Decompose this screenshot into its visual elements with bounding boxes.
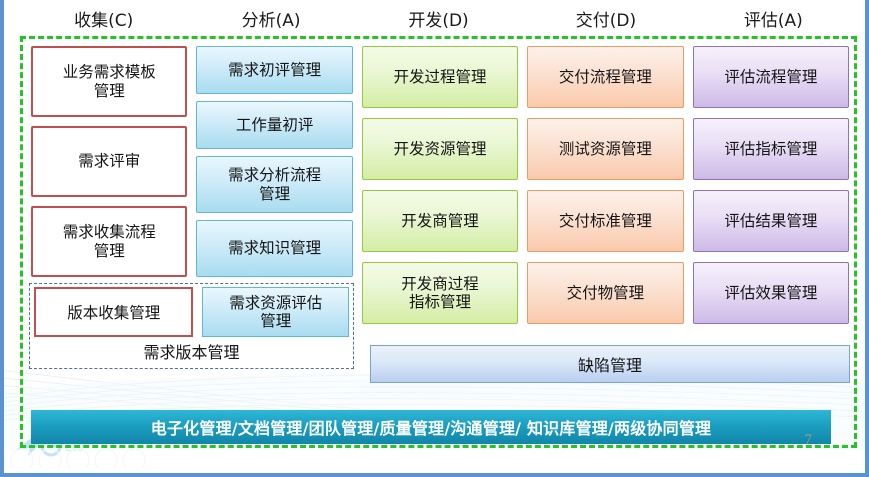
card-delivery-standard-management[interactable]: 交付标准管理 [527, 190, 683, 252]
column-header-evaluate: 评估(A) [690, 8, 857, 36]
card-requirement-knowledge-management[interactable]: 需求知识管理 [196, 220, 352, 277]
card-requirement-collection-process-management[interactable]: 需求收集流程 管理 [31, 206, 187, 277]
column-develop: 开发过程管理 开发资源管理 开发商管理 开发商过程 指标管理 [362, 46, 518, 346]
column-header-analyse: 分析(A) [187, 8, 354, 36]
column-header-develop: 开发(D) [355, 8, 522, 36]
card-version-collection-management[interactable]: 版本收集管理 [34, 287, 193, 337]
card-developer-process-metrics-management[interactable]: 开发商过程 指标管理 [362, 262, 518, 324]
card-business-requirement-template-management[interactable]: 业务需求模板 管理 [31, 46, 187, 117]
card-deliverable-management[interactable]: 交付物管理 [527, 262, 683, 324]
card-requirement-resource-evaluation-management[interactable]: 需求资源评估 管理 [202, 287, 349, 337]
column-header-collect: 收集(C) [20, 8, 187, 36]
version-group-caption: 需求版本管理 [30, 339, 353, 363]
card-development-process-management[interactable]: 开发过程管理 [362, 46, 518, 108]
card-developer-management[interactable]: 开发商管理 [362, 190, 518, 252]
requirement-version-management-group: 版本收集管理 需求资源评估 管理 需求版本管理 [29, 283, 354, 369]
card-test-resource-management[interactable]: 测试资源管理 [527, 118, 683, 180]
column-header-delivery: 交付(D) [522, 8, 689, 36]
card-defect-management[interactable]: 缺陷管理 [370, 345, 850, 383]
card-delivery-process-management[interactable]: 交付流程管理 [527, 46, 683, 108]
card-requirement-initial-review-management[interactable]: 需求初评管理 [196, 46, 352, 94]
column-headers: 收集(C) 分析(A) 开发(D) 交付(D) 评估(A) [20, 8, 857, 36]
column-delivery: 交付流程管理 测试资源管理 交付标准管理 交付物管理 [527, 46, 683, 346]
card-requirement-review[interactable]: 需求评审 [31, 126, 187, 197]
card-evaluation-process-management[interactable]: 评估流程管理 [693, 46, 849, 108]
version-group-row: 版本收集管理 需求资源评估 管理 [34, 287, 349, 337]
card-evaluation-effect-management[interactable]: 评估效果管理 [693, 262, 849, 324]
card-requirement-analysis-process-management[interactable]: 需求分析流程 管理 [196, 156, 352, 213]
column-evaluate: 评估流程管理 评估指标管理 评估结果管理 评估效果管理 [693, 46, 849, 346]
card-development-resource-management[interactable]: 开发资源管理 [362, 118, 518, 180]
card-evaluation-result-management[interactable]: 评估结果管理 [693, 190, 849, 252]
page-number: 7 [805, 432, 813, 449]
slide-canvas: Ltd 收集(C) 分析(A) 开发(D) 交付(D) 评估(A) 业务需求模板… [0, 0, 869, 477]
foundation-support-bar: 电子化管理/文档管理/团队管理/质量管理/沟通管理/ 知识库管理/两级协同管理 [31, 410, 831, 444]
card-workload-initial-estimate[interactable]: 工作量初评 [196, 101, 352, 149]
card-evaluation-metrics-management[interactable]: 评估指标管理 [693, 118, 849, 180]
